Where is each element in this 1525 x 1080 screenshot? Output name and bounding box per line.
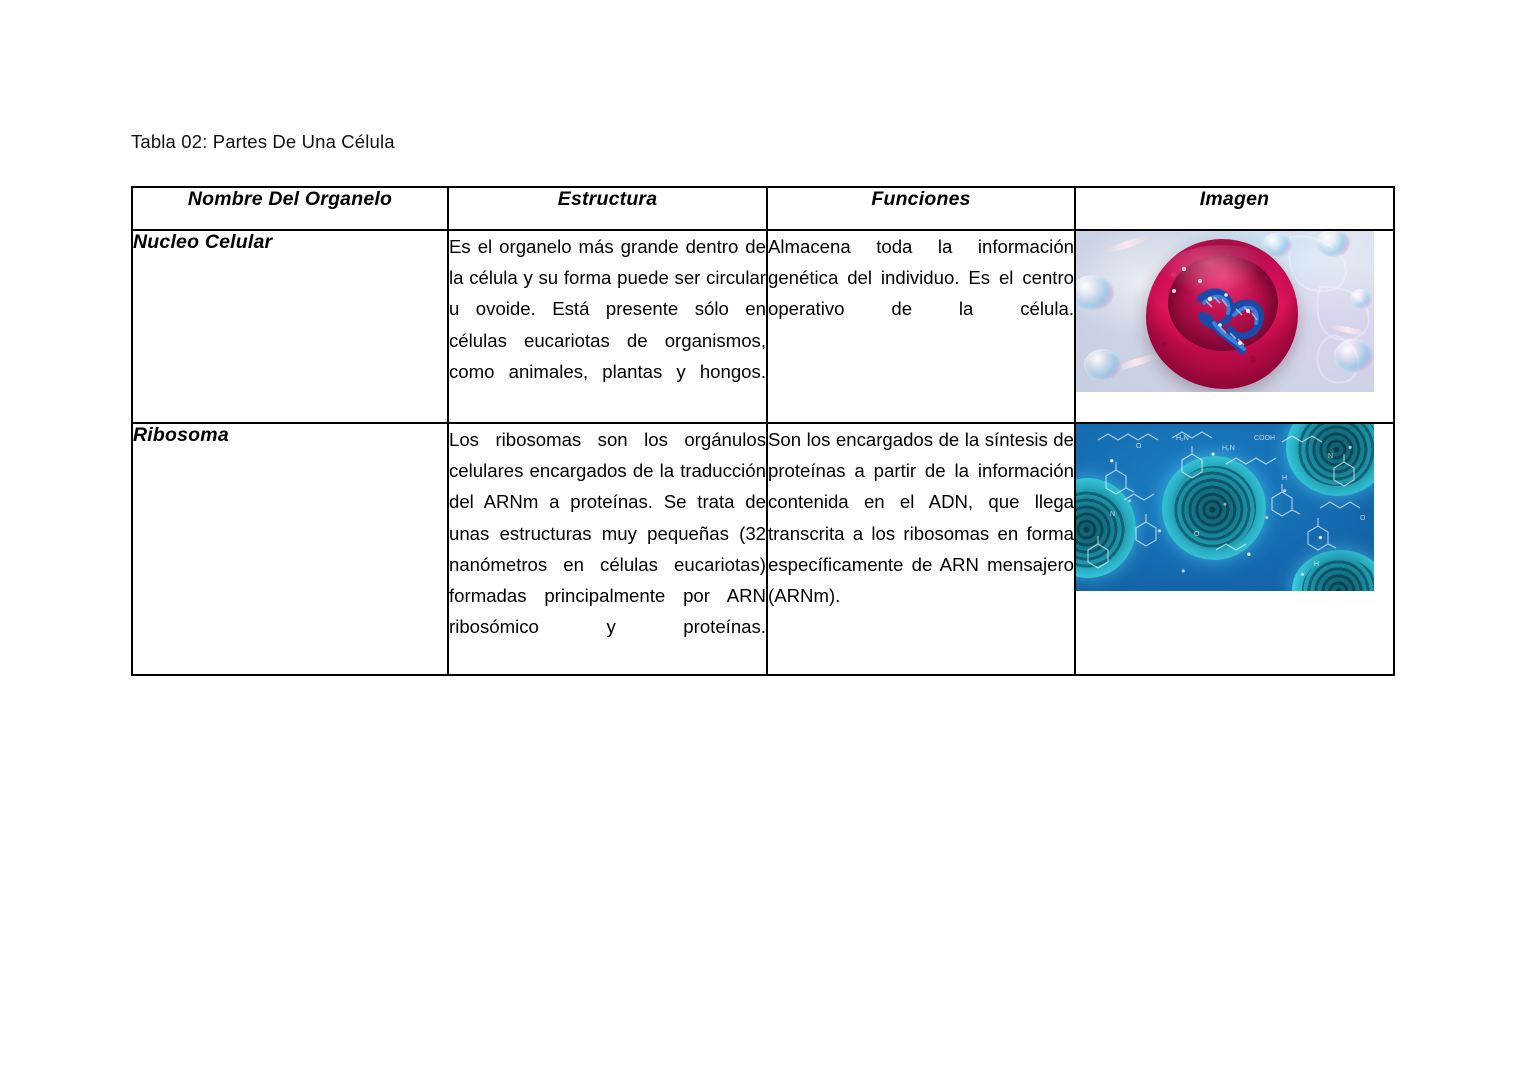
vesicle-bubble (1350, 289, 1372, 309)
vesicle-bubble (1334, 339, 1374, 373)
organelle-name-cell: Nucleo Celular (132, 230, 448, 423)
organelle-name: Ribosoma (133, 424, 229, 446)
column-header-imagen: Imagen (1075, 187, 1394, 230)
column-header-label: Nombre Del Organelo (188, 188, 392, 210)
table-row: Ribosoma Los ribosomas son los orgánulos… (132, 423, 1394, 675)
dna-strand-icon (1190, 277, 1272, 355)
column-header-nombre: Nombre Del Organelo (132, 187, 448, 230)
organelle-functions-cell: Son los encargados de la síntesis de pro… (767, 423, 1075, 675)
column-header-label: Funciones (871, 188, 970, 210)
organelle-image-cell: H₂N COOH O H₂N N H O N O H (1075, 423, 1394, 675)
organelle-functions-text: Almacena toda la información genética de… (768, 231, 1074, 356)
nucleus-body (1146, 239, 1298, 389)
cell-nucleus-illustration (1076, 231, 1374, 392)
table-container: Nombre Del Organelo Estructura Funciones… (131, 186, 1393, 676)
inner-speck (1182, 267, 1186, 271)
vesicle-bubble (1084, 349, 1122, 381)
organelle-structure-text: Los ribosomas son los orgánulos celulare… (449, 424, 766, 674)
organelle-structure-cell: Es el organelo más grande dentro de la c… (448, 230, 767, 423)
column-header-label: Imagen (1200, 188, 1269, 210)
particle-specks (1076, 424, 1374, 591)
organelle-name-cell: Ribosoma (132, 423, 448, 675)
organelle-name: Nucleo Celular (133, 231, 272, 253)
organelle-functions-cell: Almacena toda la información genética de… (767, 230, 1075, 423)
table-caption: Tabla 02: Partes De Una Célula (131, 130, 395, 154)
organelle-image-cell (1075, 230, 1394, 423)
table-row: Nucleo Celular Es el organelo más grande… (132, 230, 1394, 423)
organelle-functions-text: Son los encargados de la síntesis de pro… (768, 424, 1074, 642)
ribosomes-illustration: H₂N COOH O H₂N N H O N O H (1076, 424, 1374, 591)
organelle-structure-text: Es el organelo más grande dentro de la c… (449, 231, 766, 418)
table-header-row: Nombre Del Organelo Estructura Funciones… (132, 187, 1394, 230)
inner-speck (1172, 289, 1176, 293)
column-header-label: Estructura (558, 188, 658, 210)
organelles-table: Nombre Del Organelo Estructura Funciones… (131, 186, 1395, 676)
inner-speck (1198, 279, 1202, 283)
organelle-structure-cell: Los ribosomas son los orgánulos celulare… (448, 423, 767, 675)
document-page: Tabla 02: Partes De Una Célula Nombre De… (0, 0, 1525, 1080)
column-header-estructura: Estructura (448, 187, 767, 230)
column-header-funciones: Funciones (767, 187, 1075, 230)
